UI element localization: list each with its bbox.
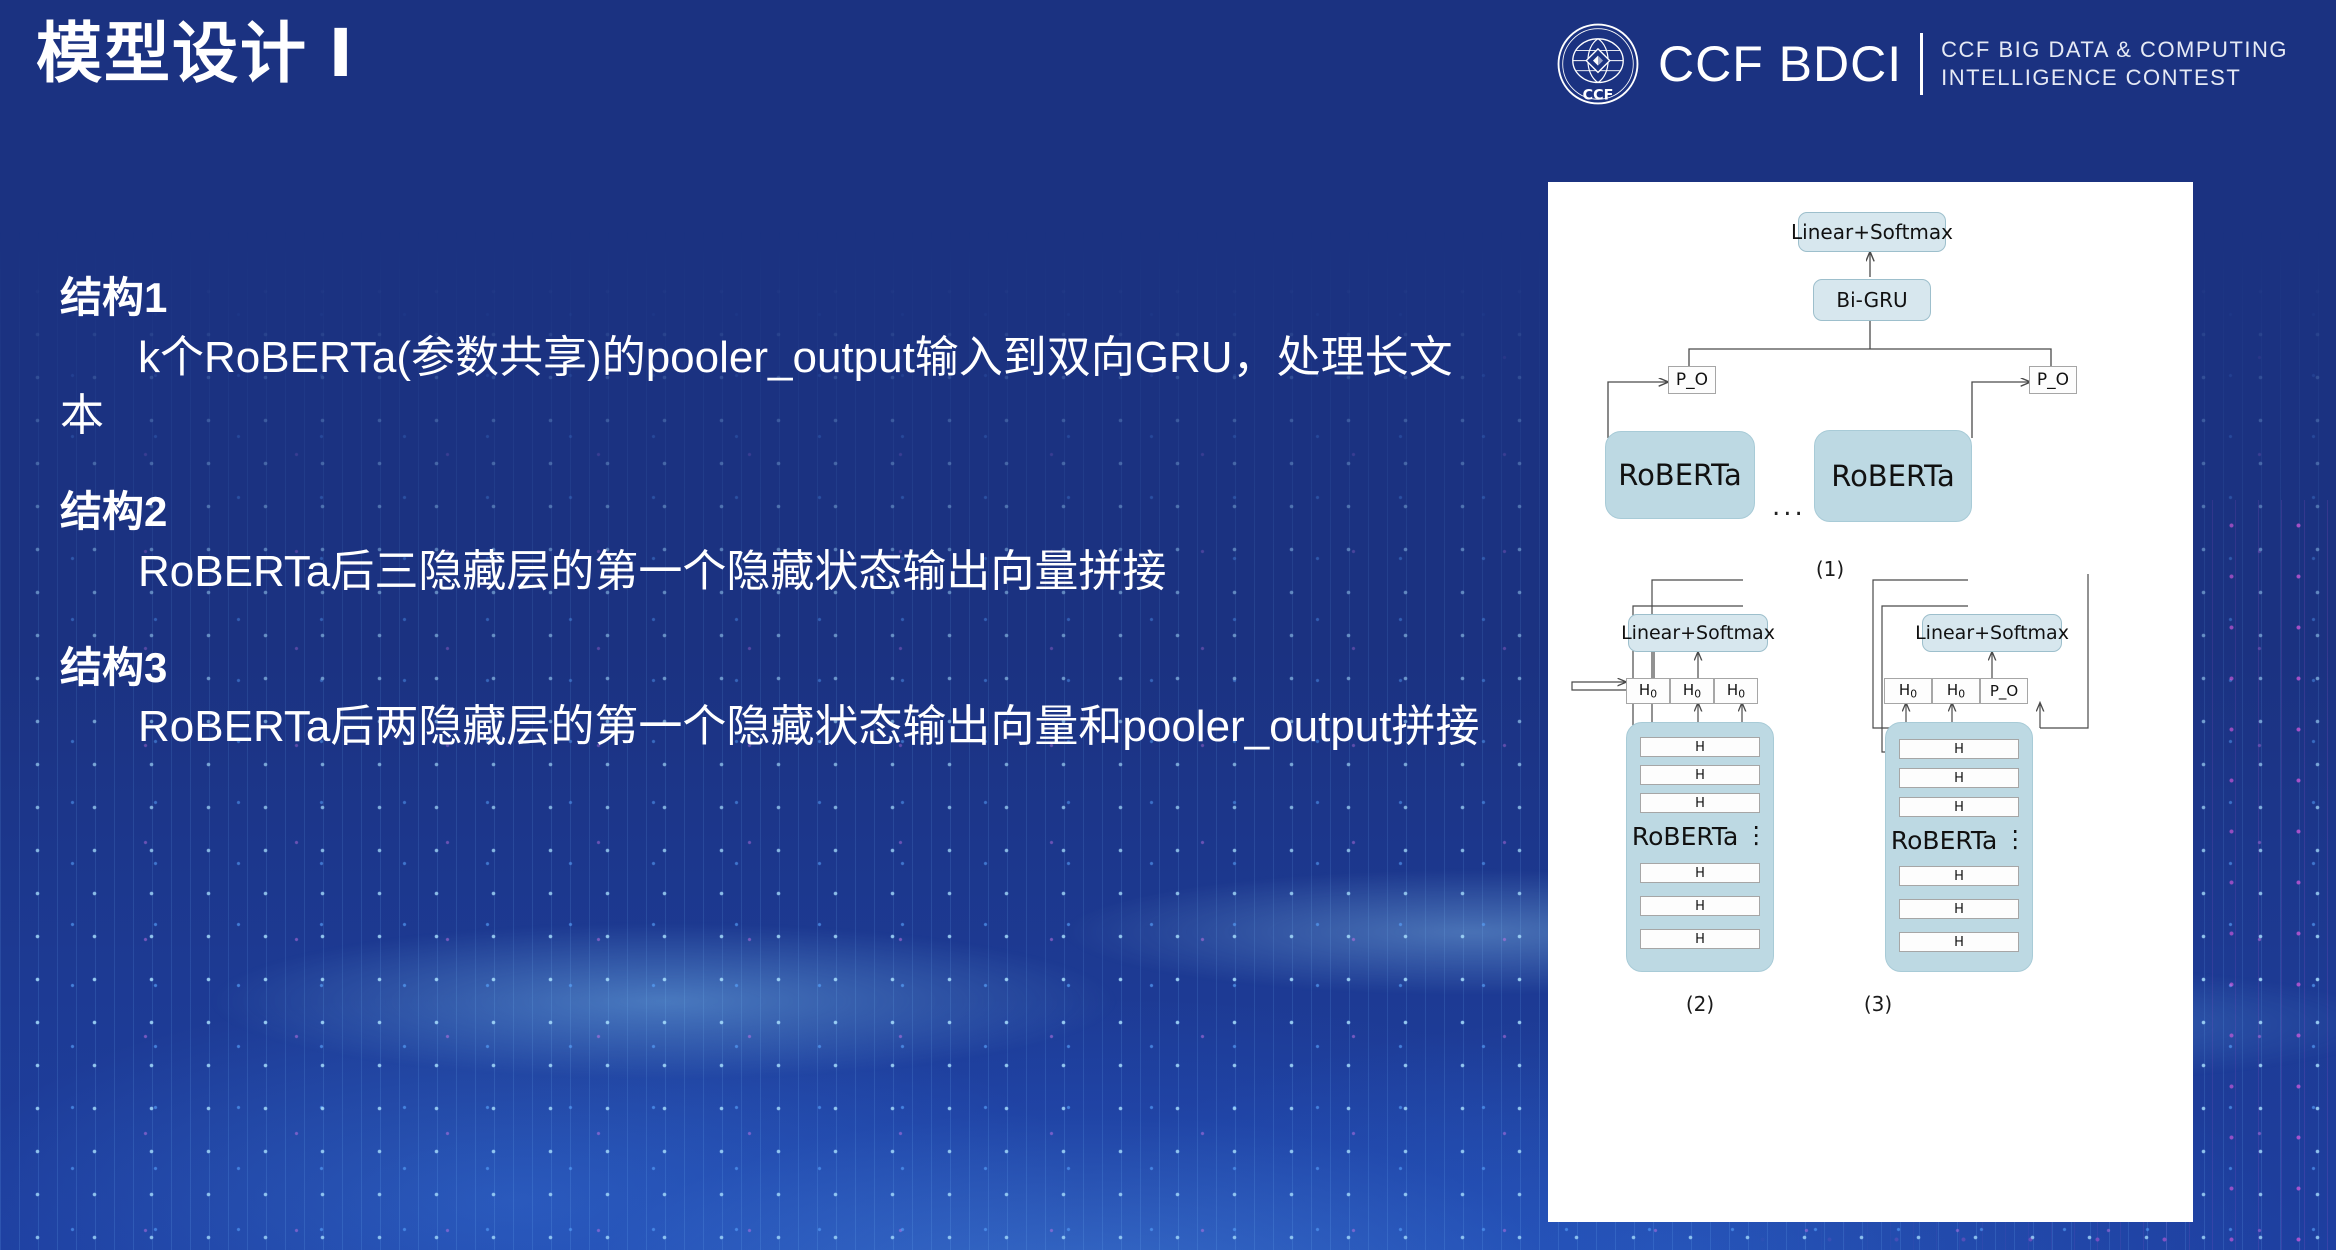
fig1-po-left-cell: P_O bbox=[1668, 366, 1716, 394]
fig2-roberta-vellipsis-icon: ⋮ bbox=[1744, 824, 1768, 848]
fig2-roberta-label: RoBERTa bbox=[1632, 822, 1739, 851]
fig2-cell-h0-3-label: H0 bbox=[1727, 681, 1745, 700]
fig2-h-row-4: H bbox=[1640, 863, 1760, 883]
fig2-roberta-label-wrap: RoBERTa ⋮ bbox=[1626, 818, 1774, 854]
fig2-h-row-2: H bbox=[1640, 765, 1760, 785]
structure-1-heading: 结构1 bbox=[60, 272, 1480, 325]
fig3-cell-h0-2: H0 bbox=[1932, 678, 1980, 704]
logo-subtitle: CCF BIG DATA & COMPUTING INTELLIGENCE CO… bbox=[1941, 36, 2288, 92]
fig2-h-row-5: H bbox=[1640, 896, 1760, 916]
fig3-h-row-4: H bbox=[1899, 866, 2019, 886]
figure-panel: Linear+Softmax Bi-GRU P_O P_O RoBERTa Ro… bbox=[1548, 182, 2193, 1222]
fig1-roberta-left-node: RoBERTa bbox=[1605, 431, 1755, 519]
fig1-ellipsis: ... bbox=[1772, 492, 1806, 522]
logo-wordmark: CCF BDCI bbox=[1658, 39, 1902, 89]
fig3-linear-softmax-node: Linear+Softmax bbox=[1922, 614, 2062, 652]
fig2-h-row-6: H bbox=[1640, 929, 1760, 949]
structure-2-body: RoBERTa后三隐藏层的第一个隐藏状态输出向量拼接 bbox=[60, 543, 1480, 602]
fig3-cell-h0-2-label: H0 bbox=[1947, 681, 1965, 700]
fig2-linear-softmax-node: Linear+Softmax bbox=[1628, 614, 1768, 652]
fig2-cell-h0-2: H0 bbox=[1670, 678, 1714, 704]
fig1-caption: (1) bbox=[1800, 557, 1860, 581]
fig1-bi-gru-node: Bi-GRU bbox=[1813, 279, 1931, 321]
fig3-h-row-1: H bbox=[1899, 739, 2019, 759]
content-column: 结构1 k个RoBERTa(参数共享)的pooler_output输入到双向GR… bbox=[60, 272, 1480, 797]
fig3-cell-h0-1: H0 bbox=[1884, 678, 1932, 704]
svg-text:CCF: CCF bbox=[1583, 87, 1614, 103]
fig2-cell-h0-3: H0 bbox=[1714, 678, 1758, 704]
structure-block-1: 结构1 k个RoBERTa(参数共享)的pooler_output输入到双向GR… bbox=[60, 272, 1480, 446]
fig3-cell-h0-1-label: H0 bbox=[1899, 681, 1917, 700]
ccf-bdci-logo: CCF CCF BDCI CCF BIG DATA & COMPUTING IN… bbox=[1556, 22, 2288, 106]
fig2-cell-h0-1: H0 bbox=[1626, 678, 1670, 704]
fig2-caption: (2) bbox=[1670, 992, 1730, 1016]
fig1-roberta-right-node: RoBERTa bbox=[1814, 430, 1972, 522]
logo-subtitle-line1: CCF BIG DATA & COMPUTING bbox=[1941, 36, 2288, 64]
structure-block-3: 结构3 RoBERTa后两隐藏层的第一个隐藏状态输出向量和pooler_outp… bbox=[60, 642, 1480, 757]
ccf-seal-icon: CCF bbox=[1556, 22, 1640, 106]
fig3-h-row-2: H bbox=[1899, 768, 2019, 788]
structure-block-2: 结构2 RoBERTa后三隐藏层的第一个隐藏状态输出向量拼接 bbox=[60, 486, 1480, 601]
structure-1-body: k个RoBERTa(参数共享)的pooler_output输入到双向GRU，处理… bbox=[60, 329, 1480, 447]
slide-root: 模型设计 Ⅰ CCF CCF BDCI CCF BIG DATA & COMPU… bbox=[0, 0, 2336, 1250]
structure-3-heading: 结构3 bbox=[60, 642, 1480, 695]
page-title: 模型设计 Ⅰ bbox=[36, 14, 355, 93]
fig3-roberta-label-wrap: RoBERTa ⋮ bbox=[1885, 822, 2033, 858]
fig1-linear-softmax-node: Linear+Softmax bbox=[1798, 212, 1946, 252]
fig1-po-right-cell: P_O bbox=[2029, 366, 2077, 394]
fig3-h-row-3: H bbox=[1899, 797, 2019, 817]
fig3-caption: (3) bbox=[1848, 992, 1908, 1016]
fig2-cell-h0-2-label: H0 bbox=[1683, 681, 1701, 700]
fig3-roberta-label: RoBERTa bbox=[1891, 826, 1998, 855]
fig3-h-row-5: H bbox=[1899, 899, 2019, 919]
logo-divider bbox=[1920, 33, 1923, 95]
fig3-cell-po: P_O bbox=[1980, 678, 2028, 704]
fig3-h-row-6: H bbox=[1899, 932, 2019, 952]
fig3-roberta-vellipsis-icon: ⋮ bbox=[2003, 828, 2027, 852]
logo-subtitle-line2: INTELLIGENCE CONTEST bbox=[1941, 64, 2288, 92]
fig2-cell-h0-1-label: H0 bbox=[1639, 681, 1657, 700]
structure-2-heading: 结构2 bbox=[60, 486, 1480, 539]
fig2-h-row-3: H bbox=[1640, 793, 1760, 813]
fig2-h-row-1: H bbox=[1640, 737, 1760, 757]
model-architecture-diagram: Linear+Softmax Bi-GRU P_O P_O RoBERTa Ro… bbox=[1548, 182, 2193, 1222]
structure-3-body: RoBERTa后两隐藏层的第一个隐藏状态输出向量和pooler_output拼接 bbox=[60, 698, 1480, 757]
